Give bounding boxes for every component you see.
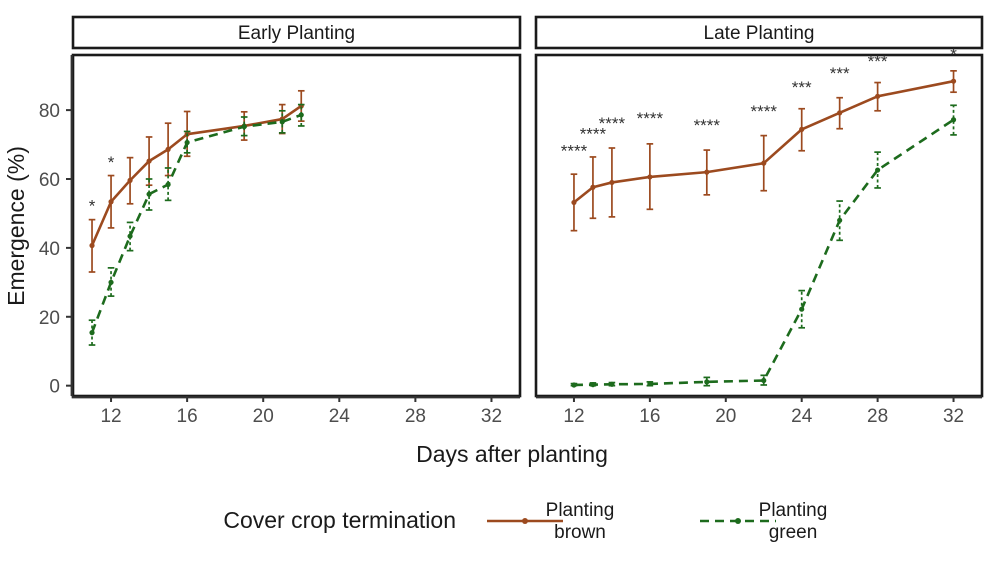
x-tick-label: 24 (329, 406, 351, 427)
legend-label-line1: Planting (546, 500, 615, 521)
data-point (609, 382, 614, 387)
data-point (609, 180, 614, 185)
data-point (108, 199, 113, 204)
x-tick-label: 20 (715, 406, 736, 427)
data-point (108, 280, 113, 285)
chart-canvas: Early Planting121620242832**Late Plantin… (0, 0, 1000, 566)
significance-annotation: *** (830, 64, 850, 83)
legend-key-marker-green (735, 518, 741, 524)
facet-strip-label: Late Planting (704, 23, 815, 44)
x-tick-label: 28 (867, 406, 888, 427)
data-point (242, 124, 247, 129)
y-axis-title: Emergence (%) (3, 146, 29, 306)
y-tick-label: 80 (39, 101, 60, 122)
significance-annotation: * (89, 197, 96, 216)
data-point (647, 381, 652, 386)
y-tick-label: 60 (39, 170, 60, 191)
data-point (951, 79, 956, 84)
significance-annotation: *** (868, 52, 888, 71)
significance-annotation: **** (751, 102, 778, 121)
data-point (571, 382, 576, 387)
panel-late: Late Planting121620242832***************… (536, 17, 982, 427)
data-point (837, 218, 842, 223)
significance-annotation: * (950, 45, 957, 64)
significance-annotation: **** (637, 109, 664, 128)
data-point (647, 174, 652, 179)
data-point (146, 192, 151, 197)
legend-label-line1: Planting (759, 500, 828, 521)
x-tick-label: 16 (639, 406, 660, 427)
data-point (875, 94, 880, 99)
x-tick-label: 32 (943, 406, 964, 427)
legend: Cover crop terminationPlantingbrownPlant… (223, 500, 827, 543)
y-tick-label: 40 (39, 239, 60, 260)
data-point (185, 140, 190, 145)
data-point (166, 147, 171, 152)
panel-border (73, 55, 520, 396)
y-axis: 020406080 (39, 55, 72, 398)
data-point (89, 330, 94, 335)
significance-annotation: **** (599, 114, 626, 133)
x-tick-label: 28 (405, 406, 426, 427)
data-point (166, 182, 171, 187)
x-tick-label: 32 (481, 406, 502, 427)
data-point (280, 119, 285, 124)
data-point (571, 200, 576, 205)
x-tick-label: 24 (791, 406, 813, 427)
facet-strip-label: Early Planting (238, 23, 355, 44)
data-point (590, 382, 595, 387)
significance-annotation: **** (694, 116, 721, 135)
data-point (761, 161, 766, 166)
data-point (590, 185, 595, 190)
data-point (799, 127, 804, 132)
data-point (704, 170, 709, 175)
panel-early: Early Planting121620242832** (73, 17, 520, 427)
data-point (127, 234, 132, 239)
y-tick-label: 0 (49, 377, 60, 398)
data-point (951, 117, 956, 122)
y-tick-label: 20 (39, 308, 60, 329)
x-tick-label: 20 (253, 406, 274, 427)
x-axis-title: Days after planting (416, 441, 608, 467)
x-tick-label: 12 (563, 406, 584, 427)
emergence-chart-figure: Early Planting121620242832**Late Plantin… (0, 0, 1000, 566)
significance-annotation: *** (792, 78, 812, 97)
data-point (704, 379, 709, 384)
data-point (89, 243, 94, 248)
legend-title: Cover crop termination (223, 507, 456, 533)
data-point (799, 307, 804, 312)
legend-label-line2: green (769, 522, 818, 543)
data-point (146, 158, 151, 163)
legend-key-marker-brown (522, 518, 528, 524)
legend-label-line2: brown (554, 522, 606, 543)
significance-annotation: **** (561, 142, 588, 161)
data-point (299, 112, 304, 117)
x-tick-label: 12 (100, 406, 121, 427)
data-point (127, 178, 132, 183)
x-tick-label: 16 (177, 406, 198, 427)
data-point (761, 378, 766, 383)
data-point (875, 167, 880, 172)
data-point (837, 110, 842, 115)
significance-annotation: * (108, 153, 115, 172)
